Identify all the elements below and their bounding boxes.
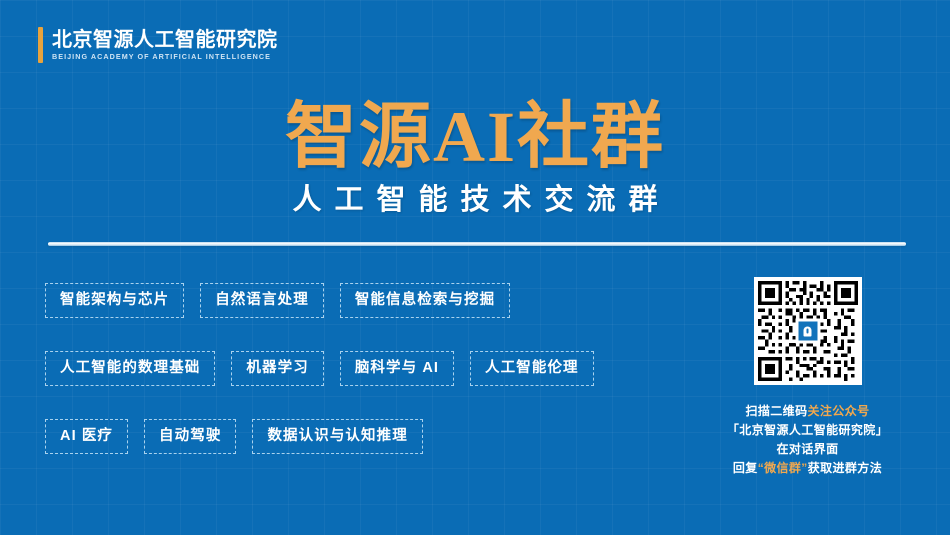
topic-tag[interactable]: 自然语言处理 [200,283,324,318]
qr-caption-line-1-plain: 扫描二维码 [745,404,807,418]
topic-tag[interactable]: 机器学习 [231,351,323,386]
qr-center-logo [795,319,820,344]
hero-section: 智源AI社群 人工智能技术交流群 [0,98,950,220]
qr-caption-line-2: 「北京智源人工智能研究院」 [705,421,910,440]
section-divider [48,242,906,246]
topic-tag[interactable]: 脑科学与 AI [340,351,454,386]
brand-logo: 北京智源人工智能研究院 BEIJING ACADEMY OF ARTIFICIA… [38,27,278,63]
logo-english-name: BEIJING ACADEMY OF ARTIFICIAL INTELLIGEN… [52,52,278,62]
qr-code-icon[interactable] [754,277,862,385]
logo-text-group: 北京智源人工智能研究院 BEIJING ACADEMY OF ARTIFICIA… [52,27,278,63]
page-title: 智源AI社群 [0,98,950,176]
qr-caption-line-4-plain-b: 获取进群方法 [808,461,882,475]
logo-accent-bar [38,27,43,63]
tag-row-2: 人工智能的数理基础 机器学习 脑科学与 AI 人工智能伦理 [45,351,665,386]
qr-center-logo-badge [798,322,817,341]
qr-caption-line-1: 扫描二维码关注公众号 [705,402,910,421]
qr-caption-line-4-accent: “微信群” [758,461,808,475]
topic-tag[interactable]: 人工智能的数理基础 [45,351,215,386]
topic-tag-list: 智能架构与芯片 自然语言处理 智能信息检索与挖掘 人工智能的数理基础 机器学习 … [45,283,665,487]
qr-caption-line-4-plain-a: 回复 [733,461,758,475]
tag-row-3: AI 医疗 自动驾驶 数据认识与认知推理 [45,419,665,454]
qr-caption-line-3: 在对话界面 [705,440,910,459]
qr-panel: 扫描二维码关注公众号 「北京智源人工智能研究院」 在对话界面 回复“微信群”获取… [705,277,910,478]
poster-canvas: 北京智源人工智能研究院 BEIJING ACADEMY OF ARTIFICIA… [0,0,950,535]
academy-mark-icon [804,326,812,336]
qr-caption: 扫描二维码关注公众号 「北京智源人工智能研究院」 在对话界面 回复“微信群”获取… [705,402,910,478]
topic-tag[interactable]: 人工智能伦理 [470,351,594,386]
logo-chinese-name: 北京智源人工智能研究院 [52,29,278,51]
topic-tag[interactable]: 自动驾驶 [144,419,236,454]
page-subtitle: 人工智能技术交流群 [0,180,950,220]
topic-tag[interactable]: 智能信息检索与挖掘 [340,283,510,318]
qr-caption-line-1-accent: 关注公众号 [808,404,870,418]
topic-tag[interactable]: 智能架构与芯片 [45,283,184,318]
qr-caption-line-4: 回复“微信群”获取进群方法 [705,459,910,478]
topic-tag[interactable]: 数据认识与认知推理 [252,419,422,454]
tag-row-1: 智能架构与芯片 自然语言处理 智能信息检索与挖掘 [45,283,665,318]
topic-tag[interactable]: AI 医疗 [45,419,128,454]
